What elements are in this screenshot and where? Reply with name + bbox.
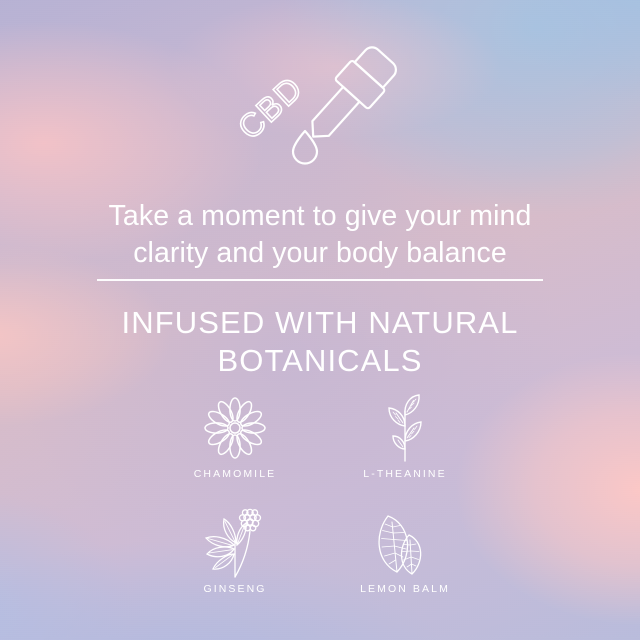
botanical-label: LEMON BALM	[360, 583, 450, 595]
dropper-tube	[305, 87, 359, 144]
tea-leaf-sprig-icon	[372, 392, 438, 464]
tagline: Take a moment to give your mind clarity …	[0, 198, 640, 272]
chamomile-svg	[202, 395, 268, 461]
chamomile-flower-icon	[202, 392, 268, 464]
brand-logo-svg: CBD	[220, 38, 420, 168]
chamomile-petals	[205, 398, 265, 458]
page-title: INFUSED WITH NATURAL BOTANICALS	[0, 304, 640, 380]
tea-leaf-upper-left	[389, 408, 405, 426]
botanicals-grid: CHAMOMILE	[0, 392, 640, 622]
tea-leaf-lower-left	[393, 436, 405, 449]
tea-leaf-upper-right	[405, 395, 419, 415]
botanical-label: L-THEANINE	[363, 468, 446, 480]
tagline-line-1: Take a moment to give your mind	[60, 198, 580, 235]
botanical-item-lemon-balm: LEMON BALM	[320, 507, 490, 622]
tea-leaf-lower-right	[405, 422, 421, 441]
ginseng-svg	[198, 507, 272, 579]
botanical-item-chamomile: CHAMOMILE	[150, 392, 320, 507]
divider-rule	[97, 279, 543, 281]
chamomile-center	[230, 423, 240, 433]
cbd-promo-poster: CBD Take a moment to give you	[0, 0, 640, 640]
botanical-item-ginseng: GINSENG	[150, 507, 320, 622]
lemon-balm-leaves-icon	[366, 507, 444, 579]
ginseng-plant-icon	[198, 507, 272, 579]
botanical-label: GINSENG	[203, 583, 266, 595]
tea-sprig-svg	[372, 393, 438, 463]
botanical-item-l-theanine: L-THEANINE	[320, 392, 490, 507]
lemon-balm-svg	[366, 510, 444, 576]
headline-line-2: BOTANICALS	[40, 342, 600, 380]
lemon-balm-leaf-small	[401, 535, 420, 574]
ginseng-leaves	[206, 519, 246, 569]
brand-wordmark: CBD	[230, 69, 309, 147]
botanical-label: CHAMOMILE	[194, 468, 277, 480]
ginseng-berry-cluster	[240, 509, 261, 530]
brand-logo: CBD	[0, 38, 640, 168]
tagline-line-2: clarity and your body balance	[60, 235, 580, 272]
headline-line-1: INFUSED WITH NATURAL	[40, 304, 600, 342]
brand-wordmark-text: CBD	[230, 69, 309, 147]
dropper-pipette-icon	[296, 41, 402, 151]
poster-content: CBD Take a moment to give you	[0, 0, 640, 640]
